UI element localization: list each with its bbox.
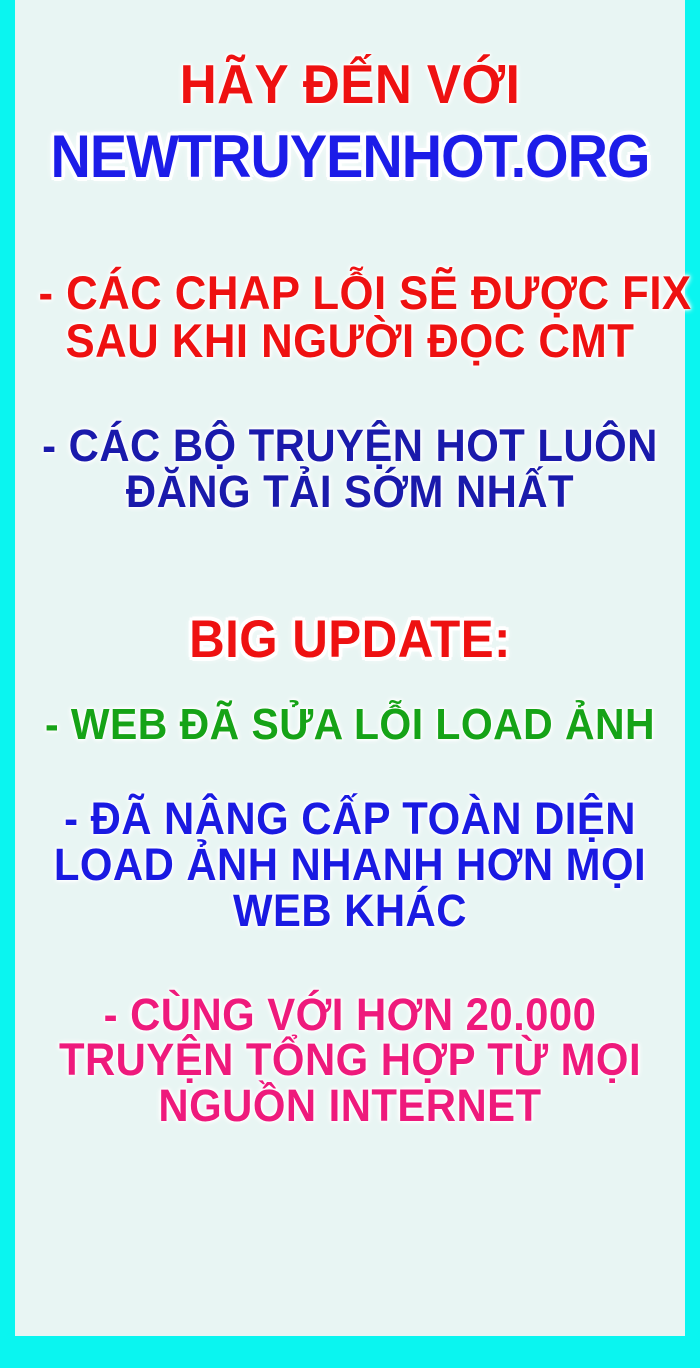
poster-panel: HÃY ĐẾN VỚI NEWTRUYENHOT.ORG - CÁC CHAP … — [15, 0, 685, 1336]
update-pink-line-1: - CÙNG VỚI HƠN 20.000 — [38, 992, 661, 1038]
update-pink-line-2: TRUYỆN TỔNG HỢP TỪ MỌI — [38, 1037, 661, 1083]
notice-navy-line-1: - CÁC BỘ TRUYỆN HOT LUÔN — [38, 423, 661, 469]
update-blue-block: - ĐÃ NÂNG CẤP TOÀN DIỆN LOAD ẢNH NHANH H… — [15, 796, 685, 934]
update-blue-line-2: LOAD ẢNH NHANH HƠN MỌI — [38, 842, 661, 888]
update-green-block: - WEB ĐÃ SỬA LỖI LOAD ẢNH — [15, 703, 685, 748]
notice-navy-line-2: ĐĂNG TẢI SỚM NHẤT — [38, 469, 661, 515]
update-blue-line-3: WEB KHÁC — [38, 888, 661, 934]
notice-red-line-2: SAU KHI NGƯỜI ĐỌC CMT — [38, 317, 661, 365]
headline-invitation: HÃY ĐẾN VỚI — [38, 56, 661, 112]
promo-poster: HÃY ĐẾN VỚI NEWTRUYENHOT.ORG - CÁC CHAP … — [0, 0, 700, 1368]
update-pink-block: - CÙNG VỚI HƠN 20.000 TRUYỆN TỔNG HỢP TỪ… — [15, 992, 685, 1130]
update-pink-line-3: NGUỒN INTERNET — [38, 1083, 661, 1129]
notice-red-line-1: - CÁC CHAP LỖI SẼ ĐƯỢC FIX — [38, 269, 661, 317]
big-update-heading: BIG UPDATE: — [38, 613, 661, 667]
update-green-item: - WEB ĐÃ SỬA LỖI LOAD ẢNH — [38, 703, 661, 748]
notice-red-block: - CÁC CHAP LỖI SẼ ĐƯỢC FIX SAU KHI NGƯỜI… — [15, 269, 685, 365]
website-domain[interactable]: NEWTRUYENHOT.ORG — [38, 126, 661, 187]
notice-navy-block: - CÁC BỘ TRUYỆN HOT LUÔN ĐĂNG TẢI SỚM NH… — [15, 423, 685, 515]
update-blue-line-1: - ĐÃ NÂNG CẤP TOÀN DIỆN — [38, 796, 661, 842]
